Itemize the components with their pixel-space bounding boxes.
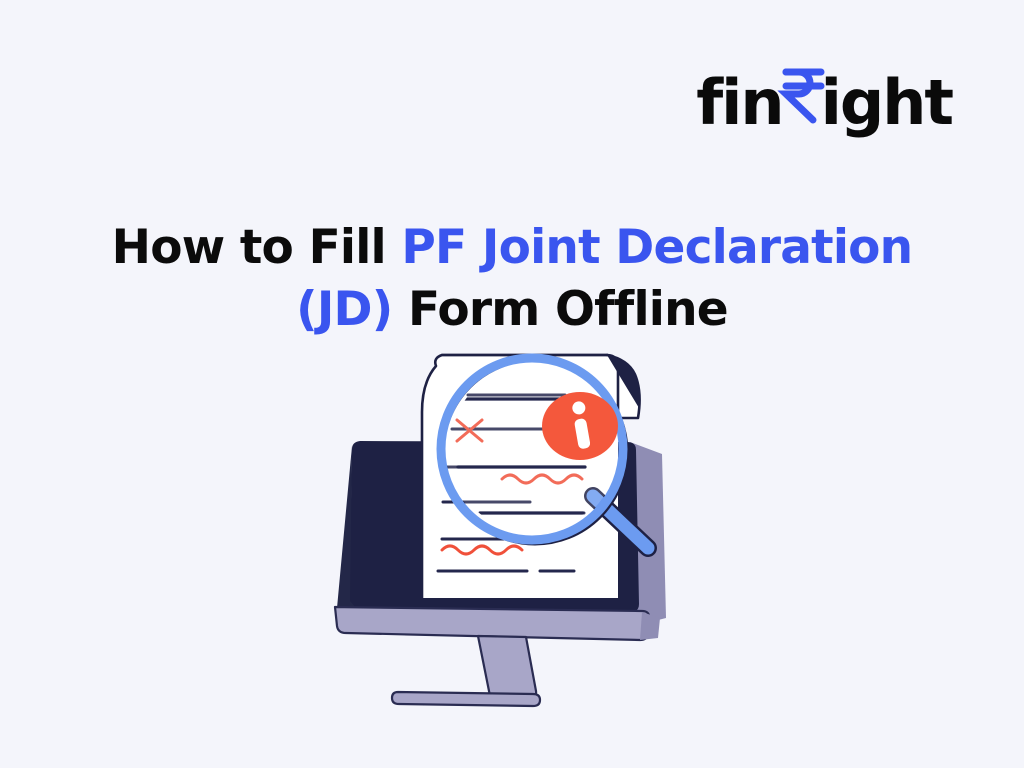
page-title-part-3: Form Offline: [392, 282, 727, 337]
info-badge: [542, 392, 618, 460]
poster-canvas: fin ight How to Fill PF Joint Declaratio…: [0, 0, 1024, 768]
brand-logo-suffix: ight: [821, 72, 952, 134]
page-title: How to Fill PF Joint Declaration (JD) Fo…: [62, 217, 962, 339]
page-title-part-1: How to Fill: [112, 220, 402, 275]
brand-logo-prefix: fin: [696, 72, 782, 134]
rupee-icon: [781, 62, 827, 124]
brand-logo[interactable]: fin ight: [696, 62, 952, 134]
monitor-bezel: [335, 607, 649, 640]
monitor-stand: [478, 636, 536, 698]
hero-illustration: [330, 336, 706, 708]
monitor-base: [392, 692, 540, 706]
